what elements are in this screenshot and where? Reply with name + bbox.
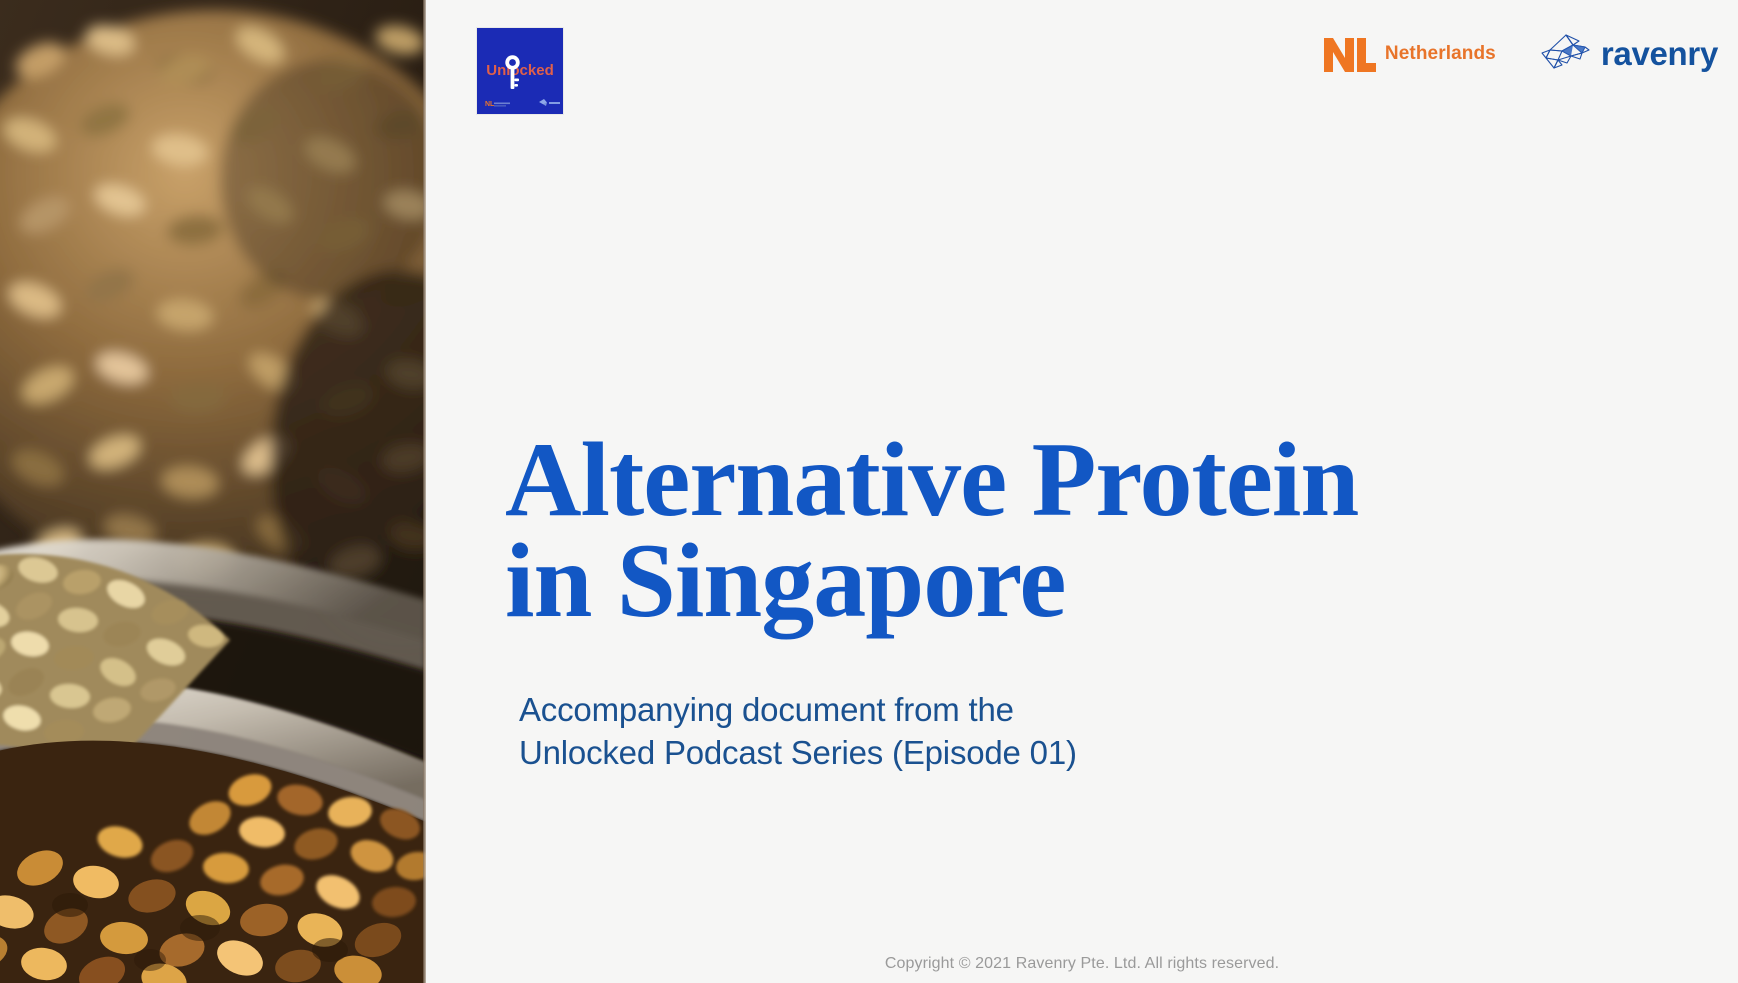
header-logo-cluster: Netherlands	[1322, 32, 1718, 76]
nl-netherlands-logo[interactable]: Netherlands	[1322, 34, 1496, 74]
photo-panel-edge	[423, 0, 426, 983]
cover-art-graphic: Unlocked NL	[477, 28, 563, 114]
origami-bird-icon	[1540, 32, 1592, 76]
page-title: Alternative Protein in Singapore	[505, 430, 1605, 631]
copyright-footer: Copyright © 2021 Ravenry Pte. Ltd. All r…	[426, 955, 1738, 973]
svg-text:NL: NL	[485, 101, 495, 108]
nl-logo-label: Netherlands	[1385, 43, 1496, 65]
slide-header: Unlocked NL	[426, 0, 1738, 130]
ravenry-logo[interactable]: ravenry	[1540, 32, 1718, 76]
slide-root: Unlocked NL	[0, 0, 1738, 983]
cover-art-wordmark: Unlocked	[486, 62, 554, 79]
nuts-and-dried-fruit-photo	[0, 0, 426, 983]
ravenry-logo-label: ravenry	[1601, 35, 1718, 73]
unlocked-podcast-cover-art[interactable]: Unlocked NL	[477, 28, 563, 114]
title-block: Alternative Protein in Singapore Accompa…	[505, 430, 1605, 774]
hero-photo-panel	[0, 0, 426, 983]
nl-monogram-icon	[1322, 34, 1376, 74]
page-subtitle: Accompanying document from the Unlocked …	[519, 689, 1605, 773]
